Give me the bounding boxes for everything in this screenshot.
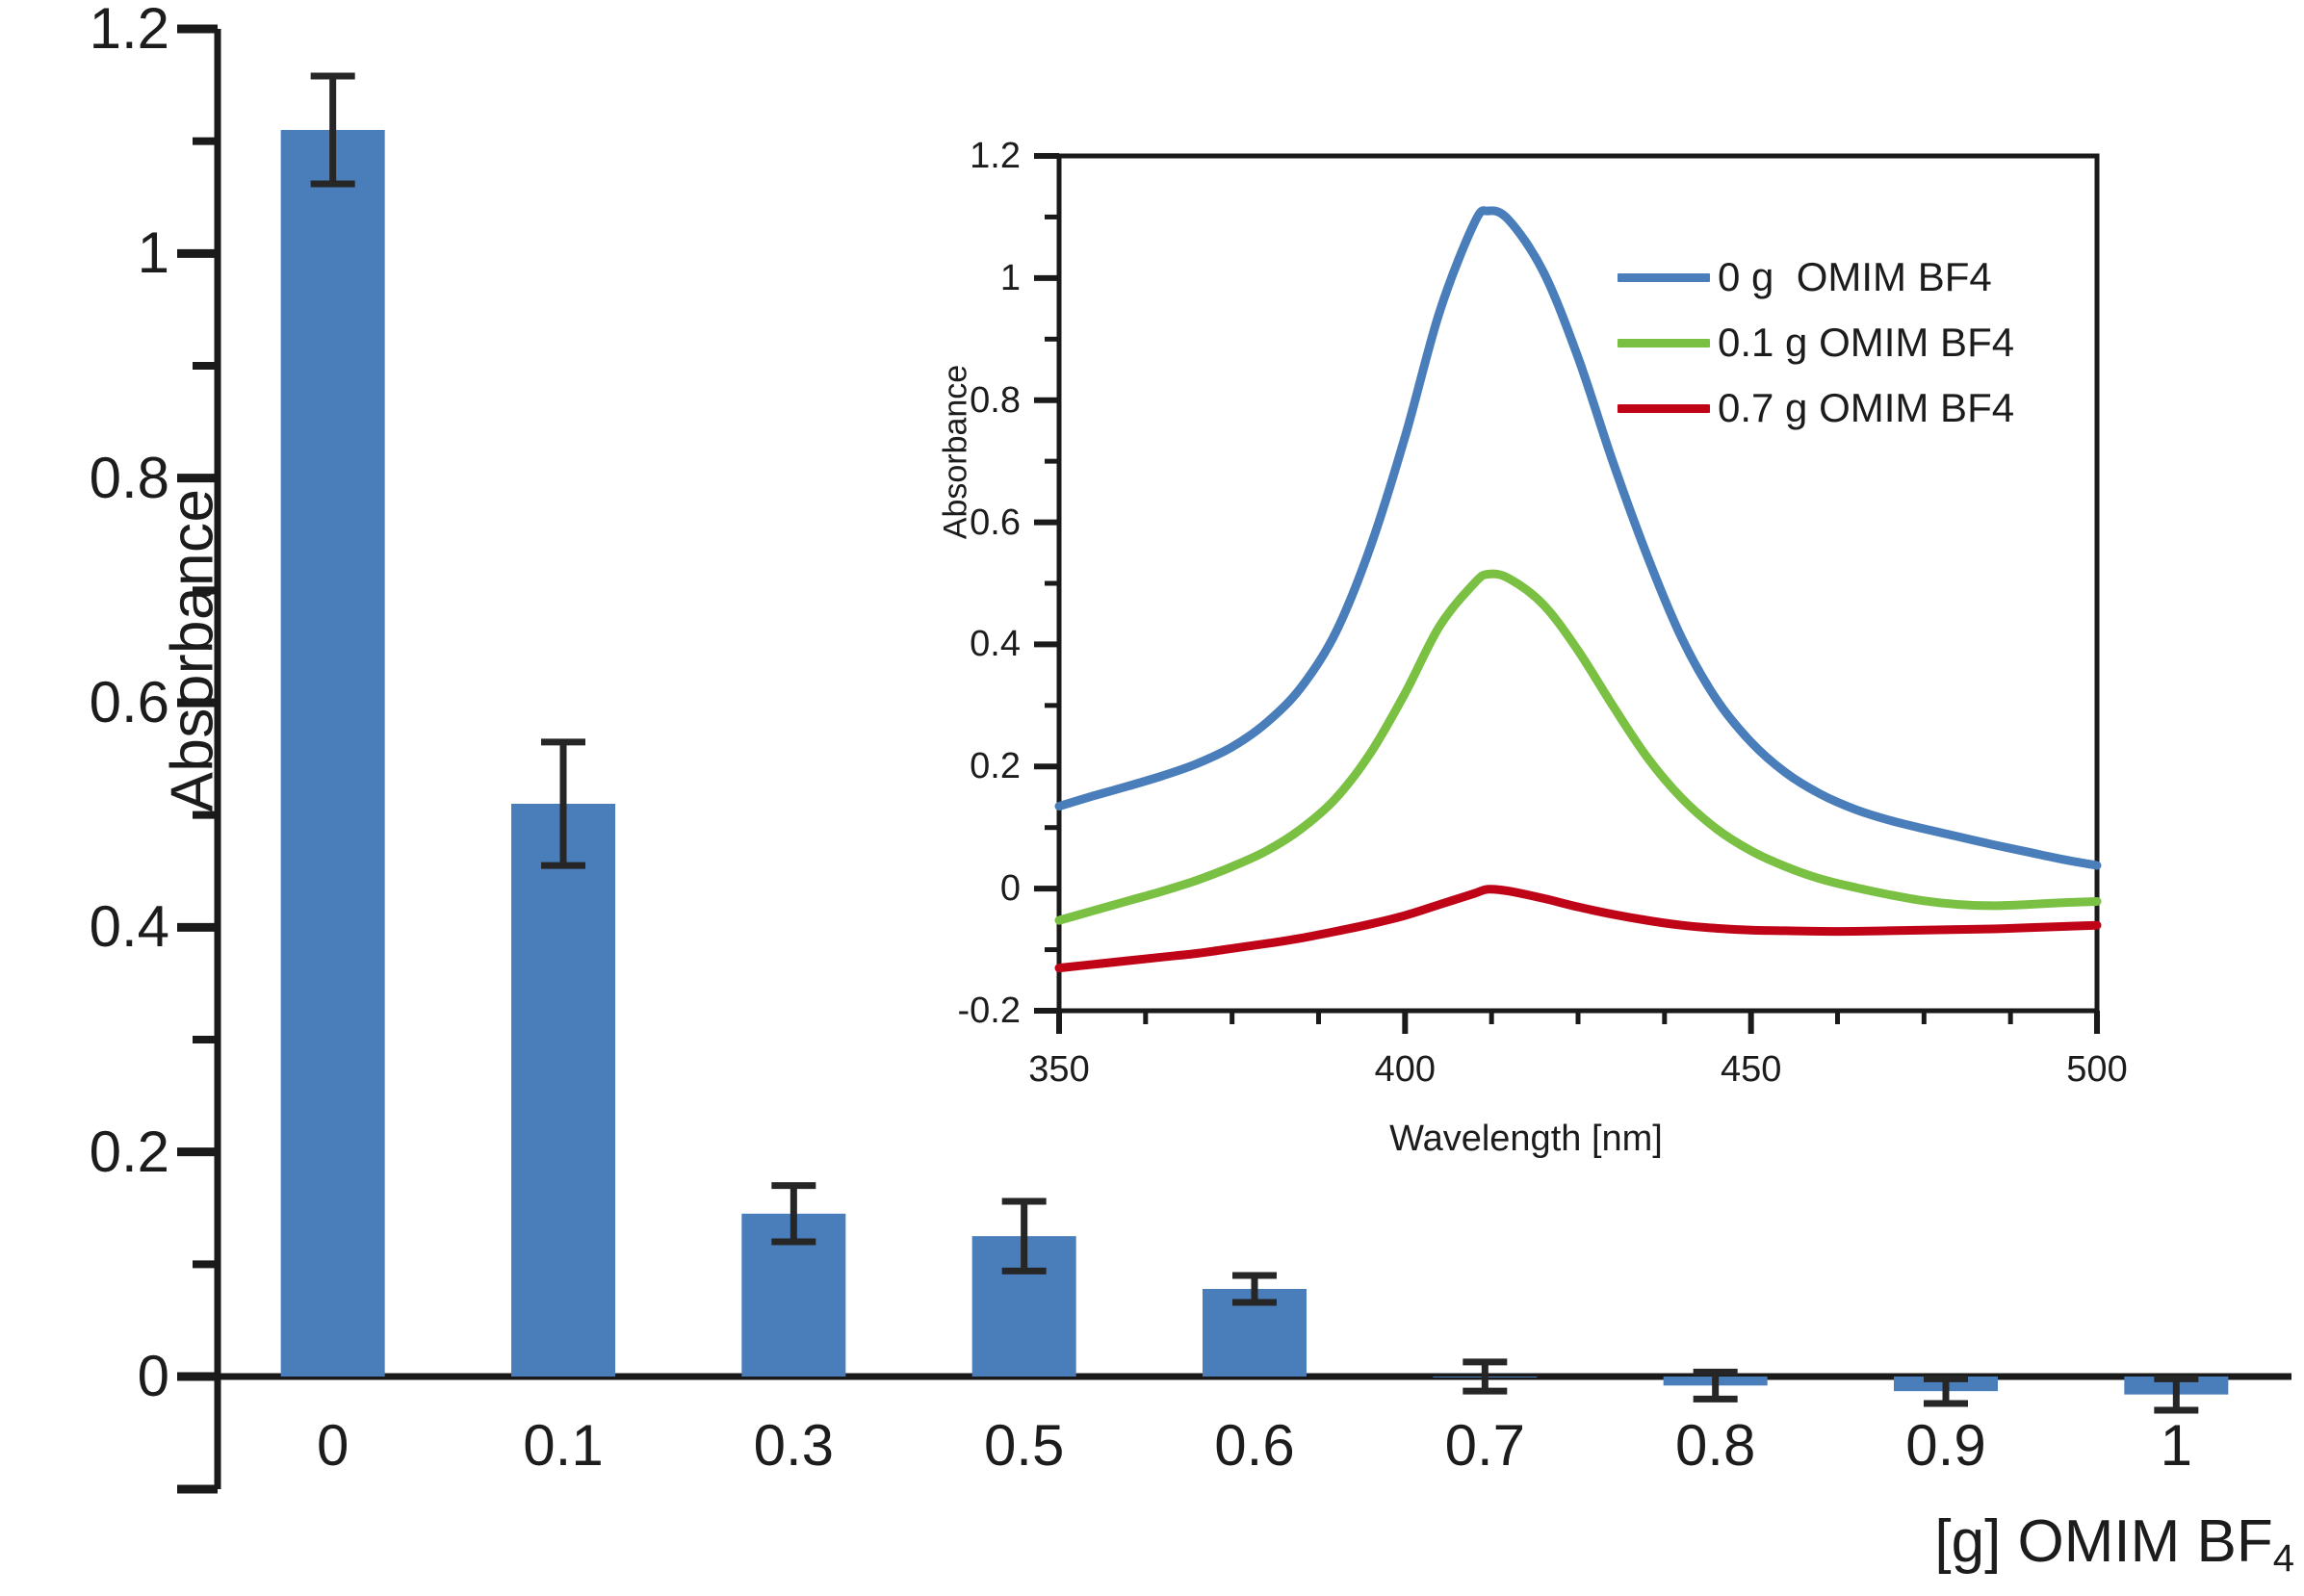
inset-y-tick-label: 1: [905, 260, 1021, 296]
main-x-axis-title: [g] OMIM BF4: [1934, 1507, 2294, 1576]
main-x-tick-label: 0.9: [1850, 1417, 2042, 1475]
main-y-tick-label: 1.2: [15, 0, 169, 58]
legend-item-label: 0 g OMIM BF4: [1718, 257, 1992, 297]
legend-color-swatch: [1618, 404, 1710, 413]
inset-x-tick-label: 350: [992, 1051, 1126, 1088]
main-x-tick-label: 1: [2080, 1417, 2272, 1475]
inset-y-tick-label: 0.6: [905, 504, 1021, 541]
main-y-tick-label: 1: [15, 224, 169, 282]
inset-y-tick-label: 0.8: [905, 382, 1021, 419]
main-x-tick-label: 0.8: [1619, 1417, 1812, 1475]
main-x-tick-label: 0.7: [1388, 1417, 1581, 1475]
main-y-tick-label: 0.4: [15, 898, 169, 956]
inset-x-tick-label: 450: [1684, 1051, 1819, 1088]
inset-legend: 0 g OMIM BF40.1 g OMIM BF40.7 g OMIM BF4: [1618, 245, 2014, 441]
inset-y-tick-label: 0: [905, 870, 1021, 907]
inset-y-tick-label: 1.2: [905, 138, 1021, 174]
main-y-tick-label: 0.6: [15, 674, 169, 732]
main-x-tick-label: 0.6: [1158, 1417, 1351, 1475]
main-y-tick-label: 0.2: [15, 1123, 169, 1181]
legend-color-swatch: [1618, 339, 1710, 348]
main-x-tick-label: 0.5: [928, 1417, 1121, 1475]
inset-spectra-chart: Absorbance 1.210.80.60.40.20-0.2 3504004…: [924, 116, 2128, 1165]
main-y-tick-label: 0: [15, 1348, 169, 1405]
legend-item: 0 g OMIM BF4: [1618, 245, 2014, 310]
legend-item: 0.7 g OMIM BF4: [1618, 375, 2014, 441]
main-x-tick-label: 0.3: [697, 1417, 890, 1475]
legend-item-label: 0.1 g OMIM BF4: [1718, 322, 2014, 363]
main-x-axis-title-subscript: 4: [2273, 1537, 2294, 1580]
legend-color-swatch: [1618, 273, 1710, 282]
main-x-tick-label: 0: [237, 1417, 429, 1475]
main-y-tick-label: 0.8: [15, 450, 169, 507]
main-x-axis-title-base: [g] OMIM BF: [1934, 1508, 2272, 1575]
inset-y-tick-label: 0.2: [905, 748, 1021, 785]
inset-x-tick-label: 500: [2030, 1051, 2164, 1088]
inset-y-tick-label: 0.4: [905, 626, 1021, 662]
inset-x-tick-label: 400: [1337, 1051, 1472, 1088]
legend-item-label: 0.7 g OMIM BF4: [1718, 388, 2014, 428]
inset-x-axis-title: Wavelength [nm]: [924, 1119, 2128, 1160]
legend-item: 0.1 g OMIM BF4: [1618, 310, 2014, 375]
main-x-tick-label: 0.1: [467, 1417, 660, 1475]
inset-y-axis-title: Absorbance: [938, 294, 975, 611]
inset-y-tick-label: -0.2: [905, 992, 1021, 1029]
